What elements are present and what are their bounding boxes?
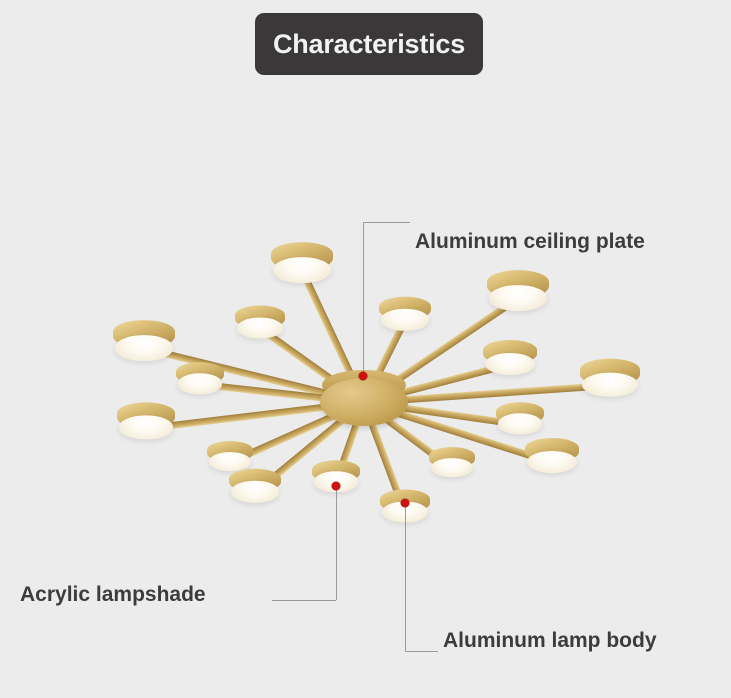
lamp-left-mid — [176, 362, 224, 405]
acrylic-lampshade — [115, 335, 172, 361]
leader-line-horizontal — [363, 222, 410, 223]
lamp-left-lower — [117, 402, 175, 453]
acrylic-lampshade — [498, 414, 542, 434]
marker-dot-lampshade — [332, 482, 341, 491]
callout-label-lampshade: Acrylic lampshade — [20, 583, 206, 607]
acrylic-lampshade — [119, 416, 172, 440]
lamp-top-right — [487, 270, 549, 326]
acrylic-lampshade — [431, 458, 473, 477]
acrylic-lampshade — [231, 481, 279, 503]
aluminum-ceiling-plate — [320, 378, 408, 426]
acrylic-lampshade — [485, 353, 535, 375]
lamp-right-far — [580, 359, 640, 412]
acrylic-lampshade — [273, 257, 330, 283]
acrylic-lampshade — [381, 309, 429, 331]
acrylic-lampshade — [527, 451, 577, 473]
marker-dot-lamp-body — [401, 499, 410, 508]
leader-line-vertical — [363, 222, 364, 376]
leader-line-vertical — [336, 486, 337, 600]
product-feature-image: Characteristics Aluminum ceiling plate A… — [0, 0, 731, 698]
lamp-left-upper — [113, 320, 175, 376]
callout-label-lamp-body: Aluminum lamp body — [443, 629, 657, 653]
lamp-top-center — [379, 297, 431, 344]
lamp-right-low — [525, 438, 579, 486]
acrylic-lampshade — [178, 374, 222, 394]
callout-label-ceiling-plate: Aluminum ceiling plate — [415, 230, 645, 254]
lamp-left-mid-upper — [235, 306, 285, 351]
lamp-right-upper — [483, 340, 537, 388]
acrylic-lampshade — [489, 285, 546, 311]
leader-line-horizontal — [272, 600, 336, 601]
leader-line-horizontal — [405, 651, 438, 652]
marker-dot-ceiling-plate — [359, 372, 368, 381]
acrylic-lampshade — [237, 317, 283, 338]
acrylic-lampshade — [582, 372, 637, 396]
lamp-bottom-left — [229, 469, 281, 516]
lamp-bottom-mid-right — [429, 447, 475, 489]
leader-line-vertical — [405, 503, 406, 651]
lamp-top-left-upper — [271, 242, 333, 298]
